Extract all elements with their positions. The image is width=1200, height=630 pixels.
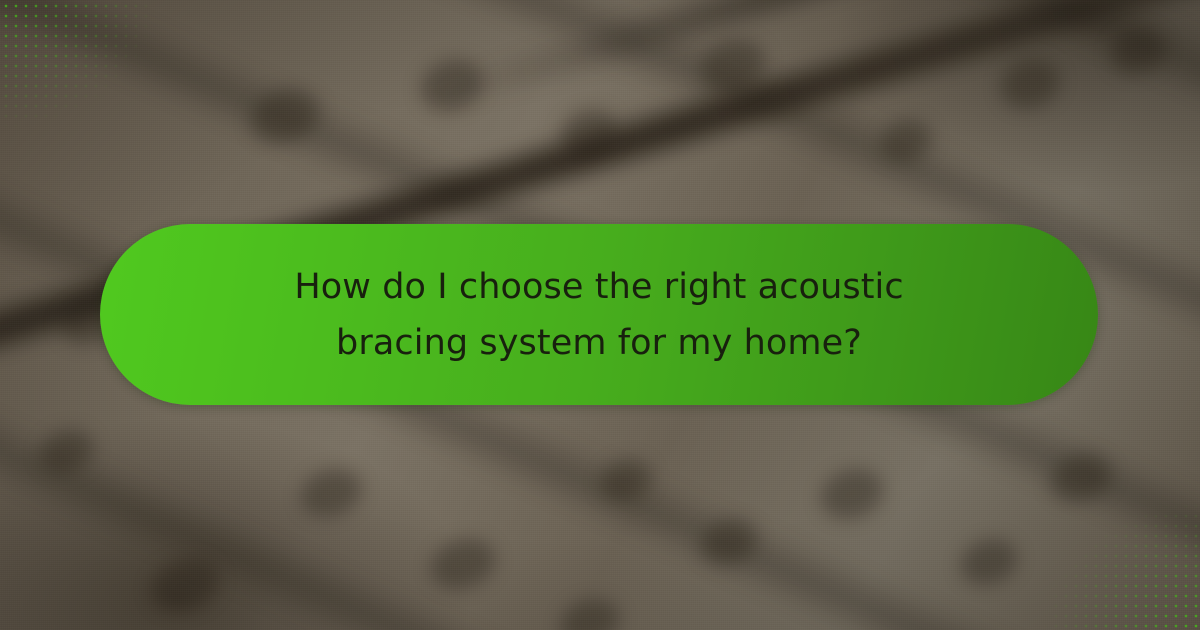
question-text: How do I choose the right acoustic braci…: [229, 259, 969, 371]
social-card-canvas: How do I choose the right acoustic braci…: [0, 0, 1200, 630]
question-pill: How do I choose the right acoustic braci…: [100, 224, 1098, 405]
